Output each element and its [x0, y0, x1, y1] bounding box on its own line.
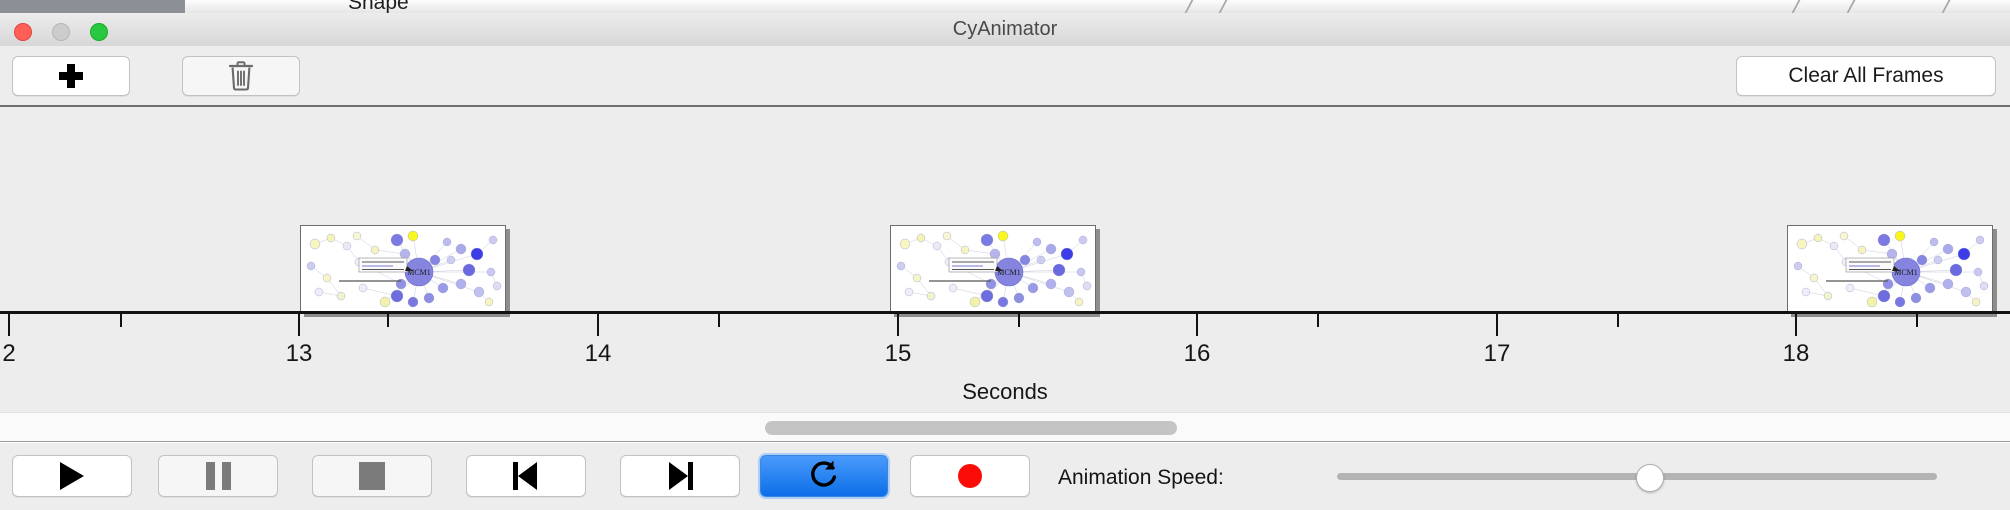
frame-thumbnail-1[interactable]: MCM1	[300, 225, 510, 317]
axis-tick	[1617, 314, 1619, 327]
loop-icon	[808, 458, 840, 495]
animation-speed-label: Animation Speed:	[1058, 466, 1224, 490]
background-window-strip: Shape	[0, 0, 2010, 14]
loop-button[interactable]	[760, 455, 888, 497]
axis-tick	[1196, 314, 1198, 336]
background-segment	[250, 0, 321, 13]
axis-tick	[1795, 314, 1797, 336]
background-segment	[510, 0, 616, 13]
background-window-label: Shape	[348, 0, 409, 14]
axis-tick	[1018, 314, 1020, 327]
background-segment	[1725, 0, 2010, 13]
axis-tick	[1916, 314, 1918, 327]
frame-thumbnail-2[interactable]: MCM1	[890, 225, 1100, 317]
add-frame-button[interactable]	[12, 56, 130, 96]
toolbar: Clear All Frames	[0, 46, 2010, 106]
axis-tick-label: 2	[2, 340, 15, 368]
timeline-panel[interactable]: MCM1MCM1MCM1 2131415161718 Seconds	[0, 107, 2010, 412]
scrollbar-thumb[interactable]	[765, 421, 1177, 435]
axis-tick	[387, 314, 389, 327]
background-segment	[1325, 0, 1726, 13]
frame-network-preview: MCM1	[300, 225, 506, 313]
plus-icon	[58, 63, 84, 89]
frame-network-preview: MCM1	[890, 225, 1096, 313]
background-segment	[615, 0, 876, 13]
axis-tick	[718, 314, 720, 327]
stop-button	[312, 455, 432, 497]
cyanimator-window: Shape CyAnimator Clear All Fra	[0, 0, 2010, 510]
axis-tick-label: 13	[286, 340, 313, 368]
pause-icon	[206, 462, 231, 490]
axis-tick	[1496, 314, 1498, 336]
axis-title: Seconds	[0, 379, 2010, 405]
record-icon	[958, 464, 982, 488]
play-button[interactable]	[12, 455, 132, 497]
window-title: CyAnimator	[0, 13, 2010, 46]
skip-end-button[interactable]	[620, 455, 740, 497]
trash-icon	[228, 61, 254, 91]
axis-tick	[8, 314, 10, 336]
skip-forward-icon	[666, 462, 694, 490]
axis-tick-label: 18	[1783, 340, 1810, 368]
axis-tick-label: 15	[885, 340, 912, 368]
playback-controls: Animation Speed:	[0, 443, 2010, 510]
title-bar: CyAnimator	[0, 13, 2010, 47]
timeline-scrollbar[interactable]	[0, 412, 2010, 442]
stop-icon	[359, 462, 385, 490]
record-button[interactable]	[910, 455, 1030, 497]
skip-start-button[interactable]	[466, 455, 586, 497]
axis-tick	[897, 314, 899, 336]
axis-tick	[597, 314, 599, 336]
clear-all-frames-button[interactable]: Clear All Frames	[1736, 56, 1996, 96]
timeline-axis	[0, 311, 2010, 314]
background-dark-panel	[0, 0, 185, 13]
frame-thumbnail-3[interactable]: MCM1	[1787, 225, 1997, 317]
background-segment	[875, 0, 1206, 13]
background-segment	[185, 0, 251, 13]
pause-button	[158, 455, 278, 497]
delete-frame-button[interactable]	[182, 56, 300, 96]
axis-tick	[1317, 314, 1319, 327]
clear-all-frames-label: Clear All Frames	[1788, 64, 1943, 88]
axis-tick-label: 14	[585, 340, 612, 368]
axis-tick	[298, 314, 300, 336]
axis-tick-label: 17	[1484, 340, 1511, 368]
play-icon	[60, 462, 84, 490]
frame-network-preview: MCM1	[1787, 225, 1993, 313]
skip-back-icon	[512, 462, 540, 490]
animation-speed-slider-thumb[interactable]	[1636, 464, 1664, 492]
axis-tick-label: 16	[1184, 340, 1211, 368]
axis-tick	[120, 314, 122, 327]
